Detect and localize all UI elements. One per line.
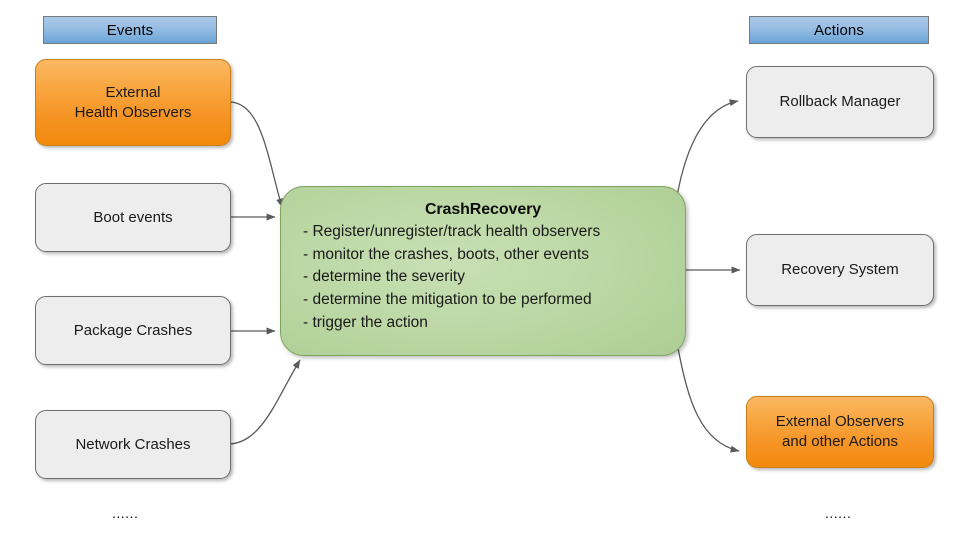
crashrecovery-responsibility-list: - Register/unregister/track health obser…	[281, 221, 685, 334]
actions-column-header: Actions	[749, 16, 929, 44]
action-node-recovery-system[interactable]: Recovery System	[746, 234, 934, 306]
events-more-ellipsis: ......	[112, 505, 138, 521]
crashrecovery-responsibility-item: - determine the mitigation to be perform…	[303, 289, 685, 312]
event-node-external-health-observers[interactable]: External Health Observers	[35, 59, 231, 146]
event-node-package-crashes[interactable]: Package Crashes	[35, 296, 231, 365]
events-column-header-label: Events	[107, 22, 153, 39]
actions-more-ellipsis: ......	[825, 505, 851, 521]
crashrecovery-node[interactable]: CrashRecovery - Register/unregister/trac…	[280, 186, 686, 356]
crashrecovery-responsibility-item: - Register/unregister/track health obser…	[303, 221, 685, 244]
event-node-network-crashes-label: Network Crashes	[67, 435, 198, 455]
actions-column-header-label: Actions	[814, 22, 864, 39]
action-node-rollback-manager[interactable]: Rollback Manager	[746, 66, 934, 138]
event-node-network-crashes[interactable]: Network Crashes	[35, 410, 231, 479]
edge-external-health-observers-to-crashrecovery	[230, 102, 282, 207]
edge-network-crashes-to-crashrecovery	[230, 360, 300, 444]
event-node-external-health-observers-label: External Health Observers	[67, 83, 200, 123]
crashrecovery-responsibility-item: - trigger the action	[303, 312, 685, 335]
event-node-boot-events-label: Boot events	[85, 208, 180, 228]
action-node-external-observers[interactable]: External Observers and other Actions	[746, 396, 934, 468]
crashrecovery-responsibility-item: - monitor the crashes, boots, other even…	[303, 244, 685, 267]
crashrecovery-responsibility-item: - determine the severity	[303, 266, 685, 289]
action-node-recovery-system-label: Recovery System	[773, 260, 907, 280]
action-node-rollback-manager-label: Rollback Manager	[772, 92, 909, 112]
diagram-canvas: Events Actions External Health Observers…	[0, 0, 960, 540]
event-node-package-crashes-label: Package Crashes	[66, 321, 200, 341]
action-node-external-observers-label: External Observers and other Actions	[768, 412, 912, 452]
edge-crashrecovery-to-external-observers	[678, 348, 739, 451]
crashrecovery-title: CrashRecovery	[281, 201, 685, 219]
events-column-header: Events	[43, 16, 217, 44]
event-node-boot-events[interactable]: Boot events	[35, 183, 231, 252]
